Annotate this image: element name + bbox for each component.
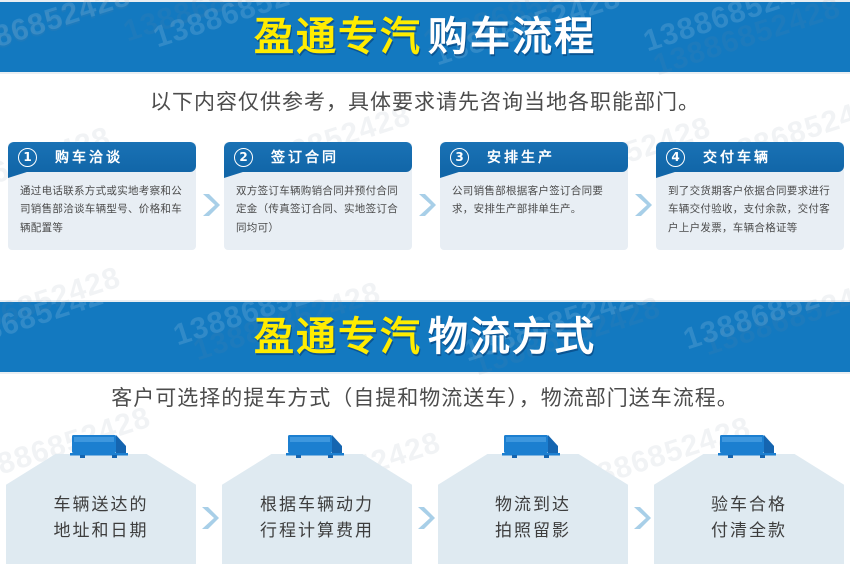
step-number-badge: 4 (666, 148, 685, 167)
banner-title-group: 盈通专汽 物流方式 (254, 317, 596, 357)
step-card: 2 签订合同 双方签订车辆购销合同并预付合同定金（传真签订合同、实地签订合同均可… (224, 142, 412, 250)
logistics-card-shape: 物流到达 拍照留影 (438, 454, 628, 564)
logistics-card-line1: 车辆送达的 (54, 492, 149, 518)
logistics-card-line1: 物流到达 (495, 492, 571, 518)
truck-icon (716, 432, 782, 467)
brand-name: 盈通专汽 (254, 17, 422, 57)
logistics-card: 车辆送达的 地址和日期 (6, 432, 196, 564)
logistics-card: 物流到达 拍照留影 (438, 432, 628, 564)
step-header: 3 安排生产 (440, 142, 628, 172)
banner-heading: 购车流程 (428, 17, 596, 57)
step-header: 4 交付车辆 (656, 142, 844, 172)
step-card: 1 购车洽谈 通过电话联系方式或实地考察和公司销售部洽谈车辆型号、价格和车辆配置… (8, 142, 196, 250)
logistics-card-shape: 根据车辆动力 行程计算费用 (222, 454, 412, 564)
step-card: 3 安排生产 公司销售部根据客户签订合同要求，安排生产部排单生产。 (440, 142, 628, 250)
watermark-text: 13886852428 (0, 2, 135, 71)
step-body: 公司销售部根据客户签订合同要求，安排生产部排单生产。 (440, 172, 628, 250)
watermark-text: 13886852428 (680, 302, 850, 357)
step-number: 2 (239, 150, 247, 164)
step-card: 4 交付车辆 到了交货期客户依据合同要求进行车辆交付验收，支付余款，交付客户上户… (656, 142, 844, 250)
purchase-and-logistics-infographic: 13886852428 13886852428 13886852428 1388… (0, 0, 850, 564)
banner-heading: 物流方式 (428, 317, 596, 357)
banner-title-group: 盈通专汽 购车流程 (254, 17, 596, 57)
step-title: 购车洽谈 (55, 147, 123, 167)
step-body: 通过电话联系方式或实地考察和公司销售部洽谈车辆型号、价格和车辆配置等 (8, 172, 196, 250)
step-header: 2 签订合同 (224, 142, 412, 172)
brand-name: 盈通专汽 (254, 317, 422, 357)
step-title: 签订合同 (271, 147, 339, 167)
chevron-right-icon (196, 192, 224, 218)
purchase-steps-row: 1 购车洽谈 通过电话联系方式或实地考察和公司销售部洽谈车辆型号、价格和车辆配置… (8, 142, 844, 254)
truck-icon (500, 432, 566, 467)
logistics-card-line2: 拍照留影 (495, 518, 571, 544)
step-number-badge: 3 (450, 148, 469, 167)
logistics-card-shape: 验车合格 付清全款 (654, 454, 844, 564)
step-number-badge: 1 (18, 148, 37, 167)
step-number: 3 (455, 150, 463, 164)
chevron-right-icon (412, 432, 438, 564)
logistics-card-line2: 行程计算费用 (260, 518, 374, 544)
logistics-card-shape: 车辆送达的 地址和日期 (6, 454, 196, 564)
logistics-banner: 13886852428 13886852428 13886852428 1388… (0, 300, 850, 374)
step-number: 1 (23, 150, 31, 164)
purchase-process-banner: 13886852428 13886852428 13886852428 1388… (0, 0, 850, 74)
step-body: 双方签订车辆购销合同并预付合同定金（传真签订合同、实地签订合同均可） (224, 172, 412, 250)
logistics-subcaption: 客户可选择的提车方式（自提和物流送车），物流部门送车流程。 (0, 382, 850, 412)
step-number-badge: 2 (234, 148, 253, 167)
step-title: 安排生产 (487, 147, 555, 167)
watermark-text: 13886852428 (640, 2, 836, 59)
chevron-right-icon (412, 192, 440, 218)
logistics-card-line1: 验车合格 (711, 492, 787, 518)
purchase-subcaption: 以下内容仅供参考，具体要求请先咨询当地各职能部门。 (0, 86, 850, 116)
logistics-card-line1: 根据车辆动力 (260, 492, 374, 518)
chevron-right-icon (628, 192, 656, 218)
truck-icon (284, 432, 350, 467)
step-header: 1 购车洽谈 (8, 142, 196, 172)
logistics-cards-row: 车辆送达的 地址和日期 根据车辆动力 (6, 432, 846, 564)
chevron-right-icon (196, 432, 222, 564)
chevron-right-icon (628, 432, 654, 564)
truck-icon (68, 432, 134, 467)
step-title: 交付车辆 (703, 147, 771, 167)
logistics-card: 验车合格 付清全款 (654, 432, 844, 564)
logistics-card: 根据车辆动力 行程计算费用 (222, 432, 412, 564)
logistics-card-line2: 付清全款 (711, 518, 787, 544)
step-body: 到了交货期客户依据合同要求进行车辆交付验收，支付余款，交付客户上户发票，车辆合格… (656, 172, 844, 250)
watermark-text: 13886852428 (0, 302, 125, 365)
step-number: 4 (671, 150, 679, 164)
logistics-card-line2: 地址和日期 (54, 518, 149, 544)
